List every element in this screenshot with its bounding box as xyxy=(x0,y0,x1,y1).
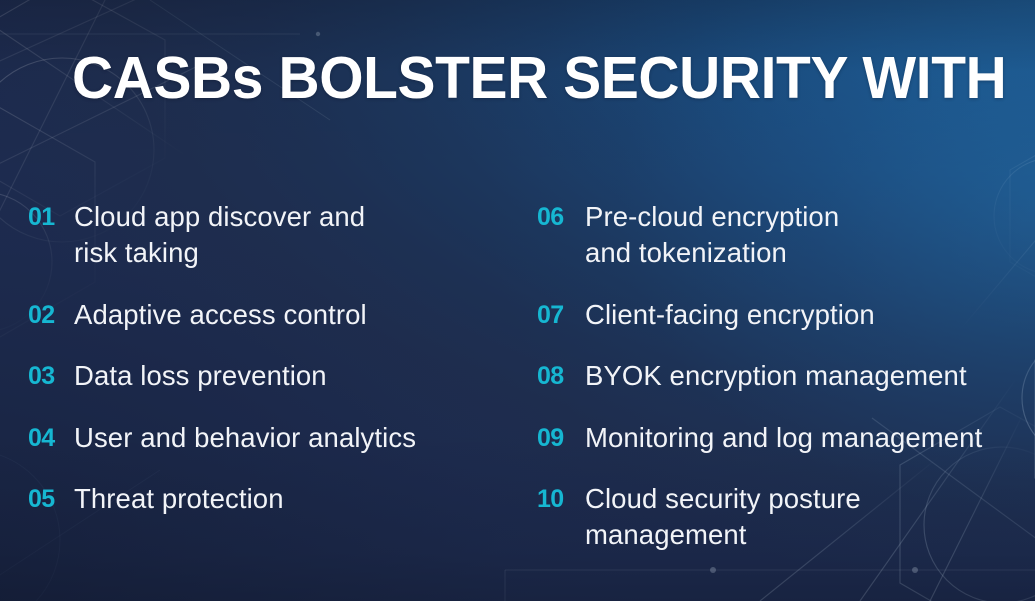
list-item-number: 08 xyxy=(537,358,585,394)
list-item-number: 02 xyxy=(28,297,74,333)
list-item-label: Pre-cloud encryption and tokenization xyxy=(585,199,839,271)
list-item-label: Client-facing encryption xyxy=(585,297,875,333)
list-item[interactable]: 03 Data loss prevention xyxy=(28,358,327,394)
list-item[interactable]: 06 Pre-cloud encryption and tokenization xyxy=(537,199,839,271)
list-item[interactable]: 01 Cloud app discover and risk taking xyxy=(28,199,365,271)
list-item[interactable]: 02 Adaptive access control xyxy=(28,297,367,333)
list-item-number: 06 xyxy=(537,199,585,235)
list-item-number: 09 xyxy=(537,420,585,456)
slide-content: CASBs BOLSTER SECURITY WITH 01 Cloud app… xyxy=(0,0,1035,601)
list-item-label: Cloud app discover and risk taking xyxy=(74,199,365,271)
list-item[interactable]: 09 Monitoring and log management xyxy=(537,420,982,456)
list-item-label: User and behavior analytics xyxy=(74,420,416,456)
list-item-label: Monitoring and log management xyxy=(585,420,982,456)
list-item[interactable]: 10 Cloud security posture management xyxy=(537,481,861,553)
list-item-number: 01 xyxy=(28,199,74,235)
list-item-number: 10 xyxy=(537,481,585,517)
list-item[interactable]: 08 BYOK encryption management xyxy=(537,358,967,394)
list-item-number: 03 xyxy=(28,358,74,394)
list-item-label: Data loss prevention xyxy=(74,358,327,394)
list-item[interactable]: 04 User and behavior analytics xyxy=(28,420,416,456)
list-item-label: Adaptive access control xyxy=(74,297,367,333)
page-title: CASBs BOLSTER SECURITY WITH xyxy=(72,47,1006,110)
list-item-label: Threat protection xyxy=(74,481,284,517)
list-item[interactable]: 05 Threat protection xyxy=(28,481,284,517)
list-item[interactable]: 07 Client-facing encryption xyxy=(537,297,875,333)
list-item-label: Cloud security posture management xyxy=(585,481,861,553)
infographic-slide: CASBs BOLSTER SECURITY WITH 01 Cloud app… xyxy=(0,0,1035,601)
list-item-number: 07 xyxy=(537,297,585,333)
list-item-number: 04 xyxy=(28,420,74,456)
list-item-number: 05 xyxy=(28,481,74,517)
list-item-label: BYOK encryption management xyxy=(585,358,967,394)
